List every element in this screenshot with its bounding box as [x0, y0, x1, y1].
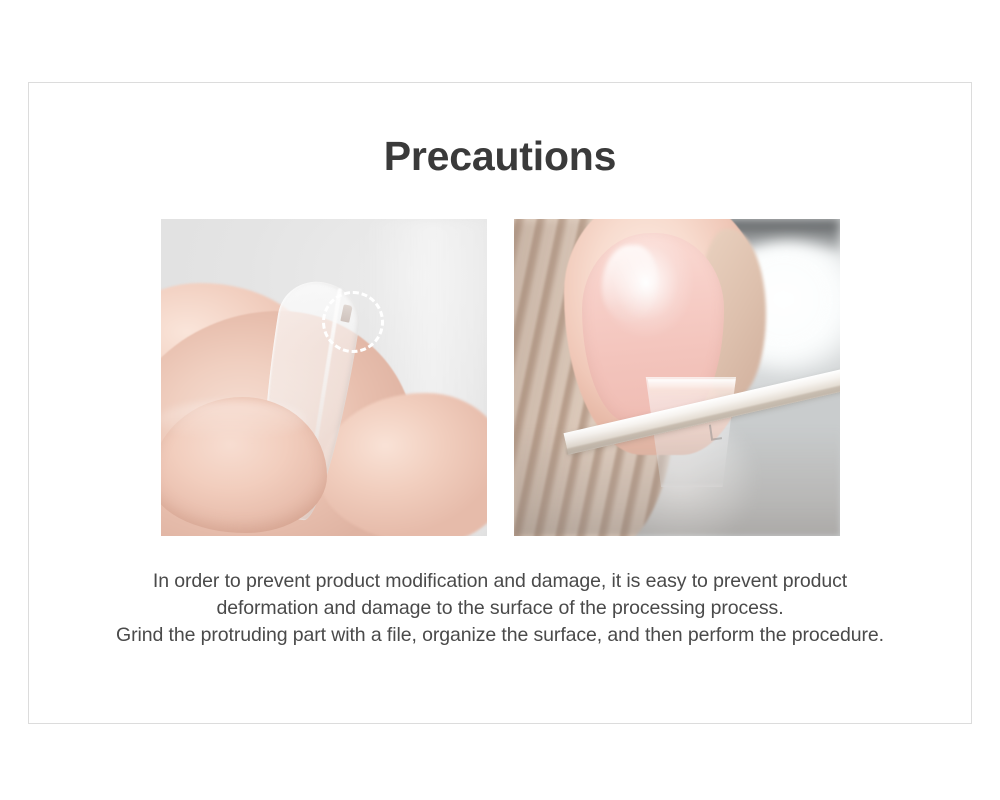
caption-text: In order to prevent product modification…	[0, 568, 1000, 649]
nail-gloss-highlight	[602, 245, 658, 323]
page-title: Precautions	[0, 132, 1000, 180]
nail-filing-photo[interactable]	[514, 219, 840, 536]
caption-line-1: In order to prevent product modification…	[0, 568, 1000, 595]
photo-gallery	[161, 219, 840, 536]
thumb-nail-plate-shape	[161, 397, 327, 533]
slide-page: Precautions	[0, 0, 1000, 800]
photo-bottom-shadow	[514, 426, 840, 536]
nail-tip-burr-photo[interactable]	[161, 219, 487, 536]
caption-line-3: Grind the protruding part with a file, o…	[0, 622, 1000, 649]
dashed-circle-highlight-icon	[322, 291, 384, 353]
caption-line-2: deformation and damage to the surface of…	[0, 595, 1000, 622]
